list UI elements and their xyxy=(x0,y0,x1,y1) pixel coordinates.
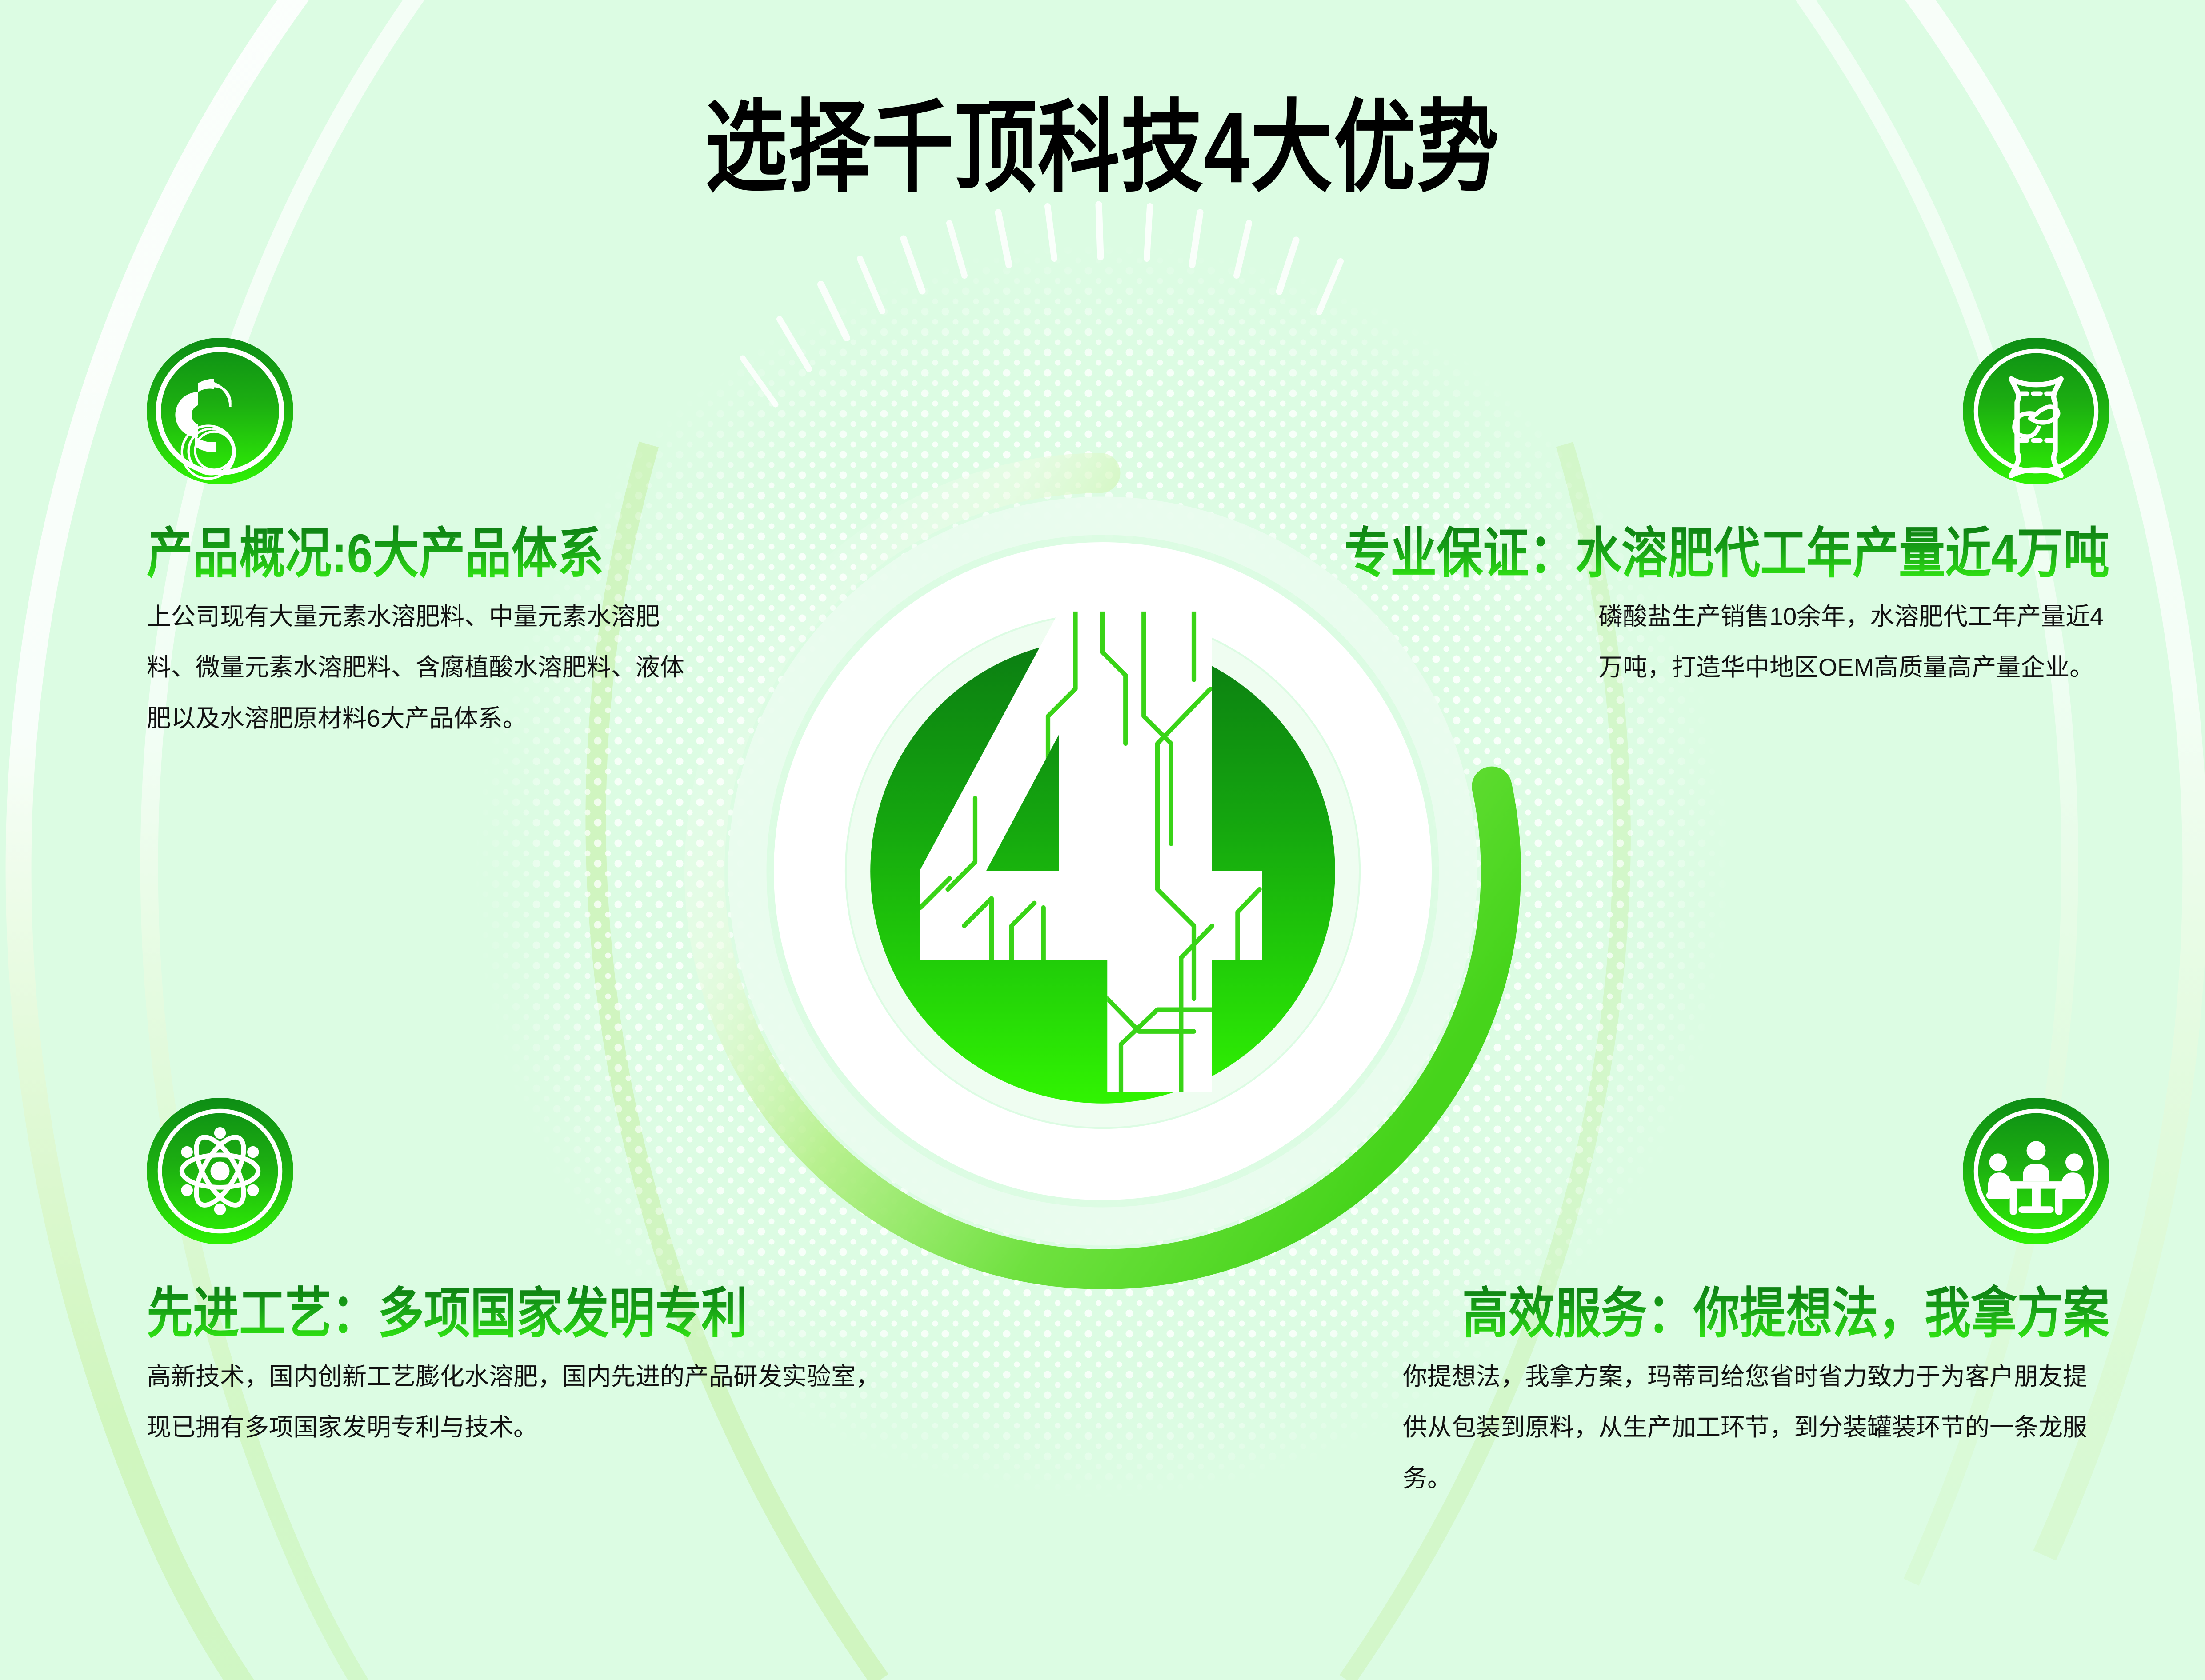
feature-heading: 先进工艺：多项国家发明专利 xyxy=(147,1284,748,1344)
meeting-people-icon xyxy=(1963,1098,2109,1244)
feature-body: 磷酸盐生产销售10余年，水溶肥代工年产量近4万吨，打造华中地区OEM高质量高产量… xyxy=(1598,591,2109,693)
feature-heading: 专业保证：水溶肥代工年产量近4万吨 xyxy=(1344,524,2109,584)
fertilizer-bag-icon-svg xyxy=(1963,338,2109,484)
feature-heading: 高效服务：你提想法，我拿方案 xyxy=(1462,1284,2109,1344)
fertilizer-bag-icon xyxy=(1963,338,2109,484)
six-badge-icon xyxy=(147,338,293,484)
feature-body: 高新技术，国内创新工艺膨化水溶肥，国内先进的产品研发实验室，现已拥有多项国家发明… xyxy=(147,1351,880,1453)
feature-body: 上公司现有大量元素水溶肥料、中量元素水溶肥料、微量元素水溶肥料、含腐植酸水溶肥料… xyxy=(147,591,702,744)
halo-streaks xyxy=(743,204,1341,404)
feature-heading: 产品概况:6大产品体系 xyxy=(147,524,604,584)
feature-body: 你提想法，我拿方案，玛蒂司给您省时省力致力于为客户朋友提供从包装到原料，从生产加… xyxy=(1403,1351,2109,1504)
right-sweep-arcs xyxy=(1622,0,2195,1582)
page-title: 选择千顶科技4大优势 xyxy=(0,96,2205,201)
infographic-stage: 选择千顶科技4大优势 xyxy=(0,0,2205,1680)
six-badge-icon-svg xyxy=(147,338,293,484)
meeting-people-icon-svg xyxy=(1963,1098,2109,1244)
atom-icon xyxy=(147,1098,293,1244)
atom-icon-svg xyxy=(147,1098,293,1244)
